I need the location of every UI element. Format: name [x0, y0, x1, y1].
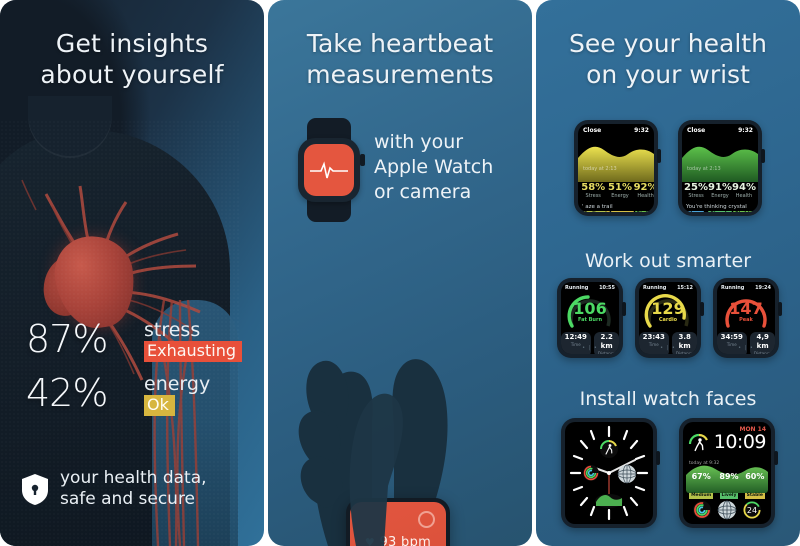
- distance-label: Distance: [754, 351, 772, 354]
- metric-badge: Low: [688, 211, 703, 212]
- metric-badge: Stable: [635, 211, 654, 212]
- workout-status-bar: Running 19:24: [717, 285, 775, 291]
- page-dots: • | •: [561, 345, 619, 351]
- panel-see-health: See your health on your wrist Close 9:32: [536, 0, 800, 546]
- health-hill-graph: [578, 138, 654, 182]
- activity-label: Running: [721, 285, 744, 291]
- zone-label: Cardio: [639, 317, 697, 323]
- bpm-value: 106: [561, 300, 619, 317]
- status-watch-yellow[interactable]: Close 9:32 today at 2:13 58% Stress Me: [574, 120, 658, 216]
- face-metric-3: 60% Stable: [745, 472, 765, 500]
- panel2-sub-line3: or camera: [374, 180, 493, 205]
- stat-row-stress: 87% stress Exhausting: [26, 318, 246, 362]
- watch-crown: [360, 154, 365, 166]
- bpm-value: 129: [639, 300, 697, 317]
- metric-value: 92%: [634, 182, 654, 193]
- phone-screen: ♥ 93 bpm 4:26 0:49 6:78: [350, 502, 446, 546]
- watch-screen: [565, 422, 653, 524]
- panel2-title-line1: Take heartbeat: [268, 28, 532, 59]
- panel2-title-line2: measurements: [268, 59, 532, 90]
- hill-graph-complication: [595, 494, 623, 508]
- stat-row-energy: 42% energy Ok: [26, 372, 246, 416]
- distance-label: Distance: [676, 351, 694, 354]
- metric-value: 67%: [689, 472, 713, 481]
- watch-caption: ' aze a trail: [582, 204, 651, 210]
- metric-name: Energy: [708, 193, 732, 200]
- security-note: your health data, safe and secure: [22, 468, 262, 510]
- panel2-title: Take heartbeat measurements: [268, 28, 532, 90]
- panel1-title: Get insights about yourself: [0, 28, 264, 90]
- heart-icon: ♥: [365, 536, 375, 546]
- security-line1: your health data,: [60, 468, 207, 489]
- workout-watch-row: Running 10:55 106 Fat Burn 12:49 Time: [536, 278, 800, 358]
- watch-caption: You're thinking crystal: [686, 204, 755, 210]
- page-dots: • | •: [639, 345, 697, 351]
- section-title-faces: Install watch faces: [536, 388, 800, 410]
- status-watch-row: Close 9:32 today at 2:13 58% Stress Me: [536, 120, 800, 216]
- activity-rings-icon[interactable]: [692, 500, 712, 520]
- panel3-title: See your health on your wrist: [536, 28, 800, 90]
- workout-status-bar: Running 10:55: [561, 285, 619, 291]
- watch-screen: Close 9:32 today at 2:13 58% Stress Me: [578, 124, 654, 212]
- runner-complication: [600, 440, 618, 458]
- security-line2: safe and secure: [60, 489, 207, 510]
- metric-badge: Stable: [733, 211, 755, 212]
- bpm-value: 93 bpm: [379, 535, 431, 546]
- watch-screen: Running 10:55 106 Fat Burn 12:49 Time: [561, 282, 619, 354]
- watch-screen: MON 14 10:09: [683, 422, 771, 524]
- bpm-readout: ♥ 93 bpm: [350, 535, 446, 546]
- workout-time: 15:12: [677, 285, 693, 291]
- graph-note: today at 9:32: [689, 461, 719, 466]
- stats-list: 87% stress Exhausting 42% energy Ok: [26, 318, 246, 426]
- energy-badge: Ok: [144, 395, 175, 416]
- panel3-title-line2: on your wrist: [536, 59, 800, 90]
- metric-name: Stress: [580, 193, 606, 200]
- watch-crown: [656, 451, 660, 465]
- metric-value: 91%: [708, 182, 732, 193]
- metric-badge: Average: [606, 211, 633, 212]
- section-title-workout: Work out smarter: [536, 250, 800, 272]
- security-text: your health data, safe and secure: [60, 468, 207, 510]
- metric-name: Stress: [684, 193, 708, 200]
- metric-value: 89%: [719, 472, 738, 481]
- watch-crown: [761, 149, 765, 163]
- metric-badge: Lively: [720, 493, 739, 499]
- watch-time: 9:32: [634, 127, 649, 134]
- panel2-sub-line2: Apple Watch: [374, 155, 493, 180]
- metric-badge: Stable: [745, 493, 765, 499]
- watch-status-bar: Close 9:32: [682, 127, 758, 134]
- analog-clock-face: [565, 422, 653, 524]
- phone-illustration: ♥ 93 bpm 4:26 0:49 6:78: [346, 498, 450, 546]
- metric-badge: Steady: [708, 211, 732, 212]
- workout-status-bar: Running 15:12: [639, 285, 697, 291]
- metric-badge: Medium: [689, 493, 713, 499]
- close-button[interactable]: Close: [583, 127, 601, 134]
- watch-time: 9:32: [738, 127, 753, 134]
- face-time: 10:09: [714, 432, 766, 453]
- watch-screen: Running 15:12 129 Cardio 23:43 Time: [639, 282, 697, 354]
- metric-value: 60%: [745, 472, 765, 481]
- metric-value: 25%: [684, 182, 708, 193]
- zone-label: Fat Burn: [561, 317, 619, 323]
- bpm-value: 147: [717, 300, 775, 317]
- uv-index-24-icon[interactable]: 24: [742, 500, 762, 520]
- close-button[interactable]: Close: [687, 127, 705, 134]
- watch-crown: [622, 302, 626, 316]
- metric-name: Health: [732, 193, 756, 200]
- watch-face-digital[interactable]: MON 14 10:09: [679, 418, 775, 528]
- distance-label: Distance: [598, 351, 616, 354]
- metric-value: 94%: [732, 182, 756, 193]
- apple-watch-illustration: [296, 118, 362, 222]
- workout-time: 10:55: [599, 285, 615, 291]
- panel-take-heartbeat: Take heartbeat measurements with your Ap…: [268, 0, 532, 546]
- face-metric-2: 89% Lively: [719, 472, 738, 500]
- metric-value: 58%: [580, 182, 606, 193]
- panel2-subtitle: with your Apple Watch or camera: [374, 130, 493, 205]
- watch-face-row: MON 14 10:09: [536, 418, 800, 528]
- face-complications: 24: [683, 500, 771, 520]
- health-hill-graph: [682, 138, 758, 182]
- stress-label: stress: [144, 320, 242, 340]
- stress-value: 87%: [26, 318, 144, 360]
- watch-crown: [774, 451, 778, 465]
- metric-name: Energy: [606, 193, 633, 200]
- activity-rings-complication: [583, 465, 599, 481]
- face-metric-1: 67% Medium: [689, 472, 713, 500]
- shield-lock-icon: [22, 474, 48, 505]
- globe-complication: [618, 465, 636, 483]
- graph-note: today at 2:13: [583, 166, 617, 172]
- watch-face-analog[interactable]: [561, 418, 657, 528]
- metric-value: 51%: [606, 182, 633, 193]
- globe-icon[interactable]: [717, 500, 737, 520]
- duration-value: 34:59: [721, 333, 743, 342]
- screenshot-root: Get insights about yourself 87% stress E…: [0, 0, 800, 546]
- panel3-title-line1: See your health: [536, 28, 800, 59]
- workout-watch-cardio[interactable]: Running 15:12 129 Cardio 23:43 Time: [635, 278, 701, 358]
- watch-status-bar: Close 9:32: [578, 127, 654, 134]
- workout-watch-fatburn[interactable]: Running 10:55 106 Fat Burn 12:49 Time: [557, 278, 623, 358]
- status-watch-green[interactable]: Close 9:32 today at 2:13 25% Stress Lo: [678, 120, 762, 216]
- zone-label: Peak: [717, 317, 775, 323]
- watch-crown: [657, 149, 661, 163]
- hand-illustration: ♥ 93 bpm 4:26 0:49 6:78: [268, 246, 532, 546]
- panel1-title-line1: Get insights: [0, 28, 264, 59]
- duration-value: 23:43: [643, 333, 665, 342]
- panel2-sub-line1: with your: [374, 130, 493, 155]
- svg-text:24: 24: [747, 506, 757, 515]
- watch-screen: [304, 144, 354, 196]
- energy-label: energy: [144, 374, 210, 394]
- metric-badge: Medium: [580, 211, 606, 212]
- heartbeat-waveform-icon: [309, 159, 349, 181]
- graph-note: today at 2:13: [687, 166, 721, 172]
- metric-name: Health: [634, 193, 654, 200]
- workout-time: 19:24: [755, 285, 771, 291]
- panel-get-insights: Get insights about yourself 87% stress E…: [0, 0, 264, 546]
- watch-screen: Running 19:24 147 Peak 34:59 Time: [717, 282, 775, 354]
- duration-value: 12:49: [565, 333, 587, 342]
- watch-crown: [700, 302, 704, 316]
- page-dots: • | •: [717, 345, 775, 351]
- workout-watch-peak[interactable]: Running 19:24 147 Peak 34:59 Time: [713, 278, 779, 358]
- watch-screen: Close 9:32 today at 2:13 25% Stress Lo: [682, 124, 758, 212]
- activity-label: Running: [643, 285, 666, 291]
- watch-crown: [778, 302, 782, 316]
- camera-lens-icon: [418, 511, 435, 528]
- energy-value: 42%: [26, 372, 144, 414]
- face-metrics: 67% Medium 89% Lively 60% Stable: [686, 472, 768, 500]
- runner-icon: [688, 433, 710, 455]
- activity-label: Running: [565, 285, 588, 291]
- panel1-title-line2: about yourself: [0, 59, 264, 90]
- stress-badge: Exhausting: [144, 341, 242, 362]
